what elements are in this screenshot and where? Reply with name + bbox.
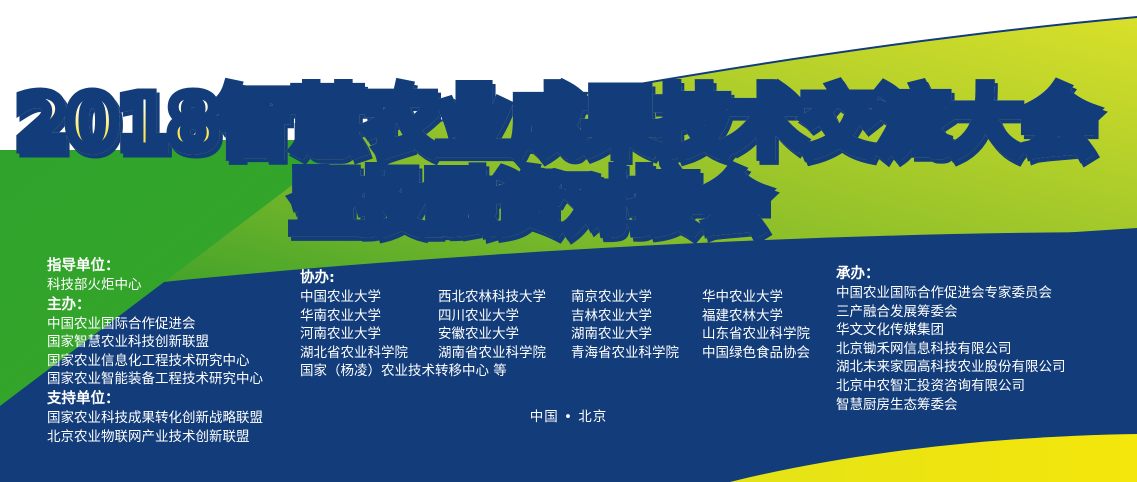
column-middle-coorganizers: 协办: 中国农业大学 西北农林科技大学 南京农业大学 华中农业大学 华南农业大学… [300,268,810,381]
entry-coorg-3-1: 湖南省农业科学院 [438,344,571,363]
entry-guidance-0: 科技部火炬中心 [47,276,263,295]
entry-coorg-3-3: 中国绿色食品协会 [702,344,810,363]
label-undertaker: 承办： [836,264,1066,284]
event-location: 中国 • 北京 [0,405,1137,425]
entry-coorg-1-3: 福建农林大学 [702,307,783,326]
coorganizer-row: 国家（杨凌）农业技术转移中心 等 [300,362,810,381]
entry-undertaker-2: 华文文化传媒集团 [836,321,1066,340]
entry-coorg-0-0: 中国农业大学 [300,288,438,307]
entry-coorg-2-1: 安徽农业大学 [438,325,571,344]
entry-host-1: 国家智慧农业科技创新联盟 [47,333,263,352]
entry-undertaker-5: 北京中农智汇投资咨询有限公司 [836,377,1066,396]
entry-support-1: 北京农业物联网产业技术创新联盟 [47,428,263,447]
entry-undertaker-3: 北京锄禾网信息科技有限公司 [836,340,1066,359]
entry-host-0: 中国农业国际合作促进会 [47,315,263,334]
entry-coorg-1-0: 华南农业大学 [300,307,438,326]
entry-undertaker-4: 湖北未来家园高科技农业股份有限公司 [836,358,1066,377]
entry-undertaker-0: 中国农业国际合作促进会专家委员会 [836,284,1066,303]
entry-coorg-3-2: 青海省农业科学院 [571,344,702,363]
label-host: 主办： [47,295,263,315]
entry-host-2: 国家农业信息化工程技术研究中心 [47,352,263,371]
entry-coorg-0-3: 华中农业大学 [702,288,783,307]
column-right-undertakers: 承办： 中国农业国际合作促进会专家委员会 三产融合发展筹委会 华文文化传媒集团 … [836,264,1066,414]
entry-coorg-0-2: 南京农业大学 [571,288,702,307]
entry-undertaker-1: 三产融合发展筹委会 [836,303,1066,322]
entry-coorg-2-2: 湖南农业大学 [571,325,702,344]
coorganizer-row: 华南农业大学 四川农业大学 吉林农业大学 福建农林大学 [300,307,810,326]
label-coorganizer: 协办: [300,268,810,288]
entry-coorg-4-0: 国家（杨凌）农业技术转移中心 等 [300,362,507,381]
event-banner: 2018智慧农业成果技术交流大会 2018智慧农业成果技术交流大会 暨投融资对接… [0,0,1137,482]
coorganizer-row: 中国农业大学 西北农林科技大学 南京农业大学 华中农业大学 [300,288,810,307]
entry-coorg-0-1: 西北农林科技大学 [438,288,571,307]
entry-coorg-3-0: 湖北省农业科学院 [300,344,438,363]
entry-host-3: 国家农业智能装备工程技术研究中心 [47,370,263,389]
label-guidance-unit: 指导单位： [47,256,263,276]
entry-coorg-2-3: 山东省农业科学院 [702,325,810,344]
coorganizer-row: 河南农业大学 安徽农业大学 湖南农业大学 山东省农业科学院 [300,325,810,344]
coorganizer-row: 湖北省农业科学院 湖南省农业科学院 青海省农业科学院 中国绿色食品协会 [300,344,810,363]
entry-coorg-1-2: 吉林农业大学 [571,307,702,326]
entry-coorg-1-1: 四川农业大学 [438,307,571,326]
entry-coorg-2-0: 河南农业大学 [300,325,438,344]
